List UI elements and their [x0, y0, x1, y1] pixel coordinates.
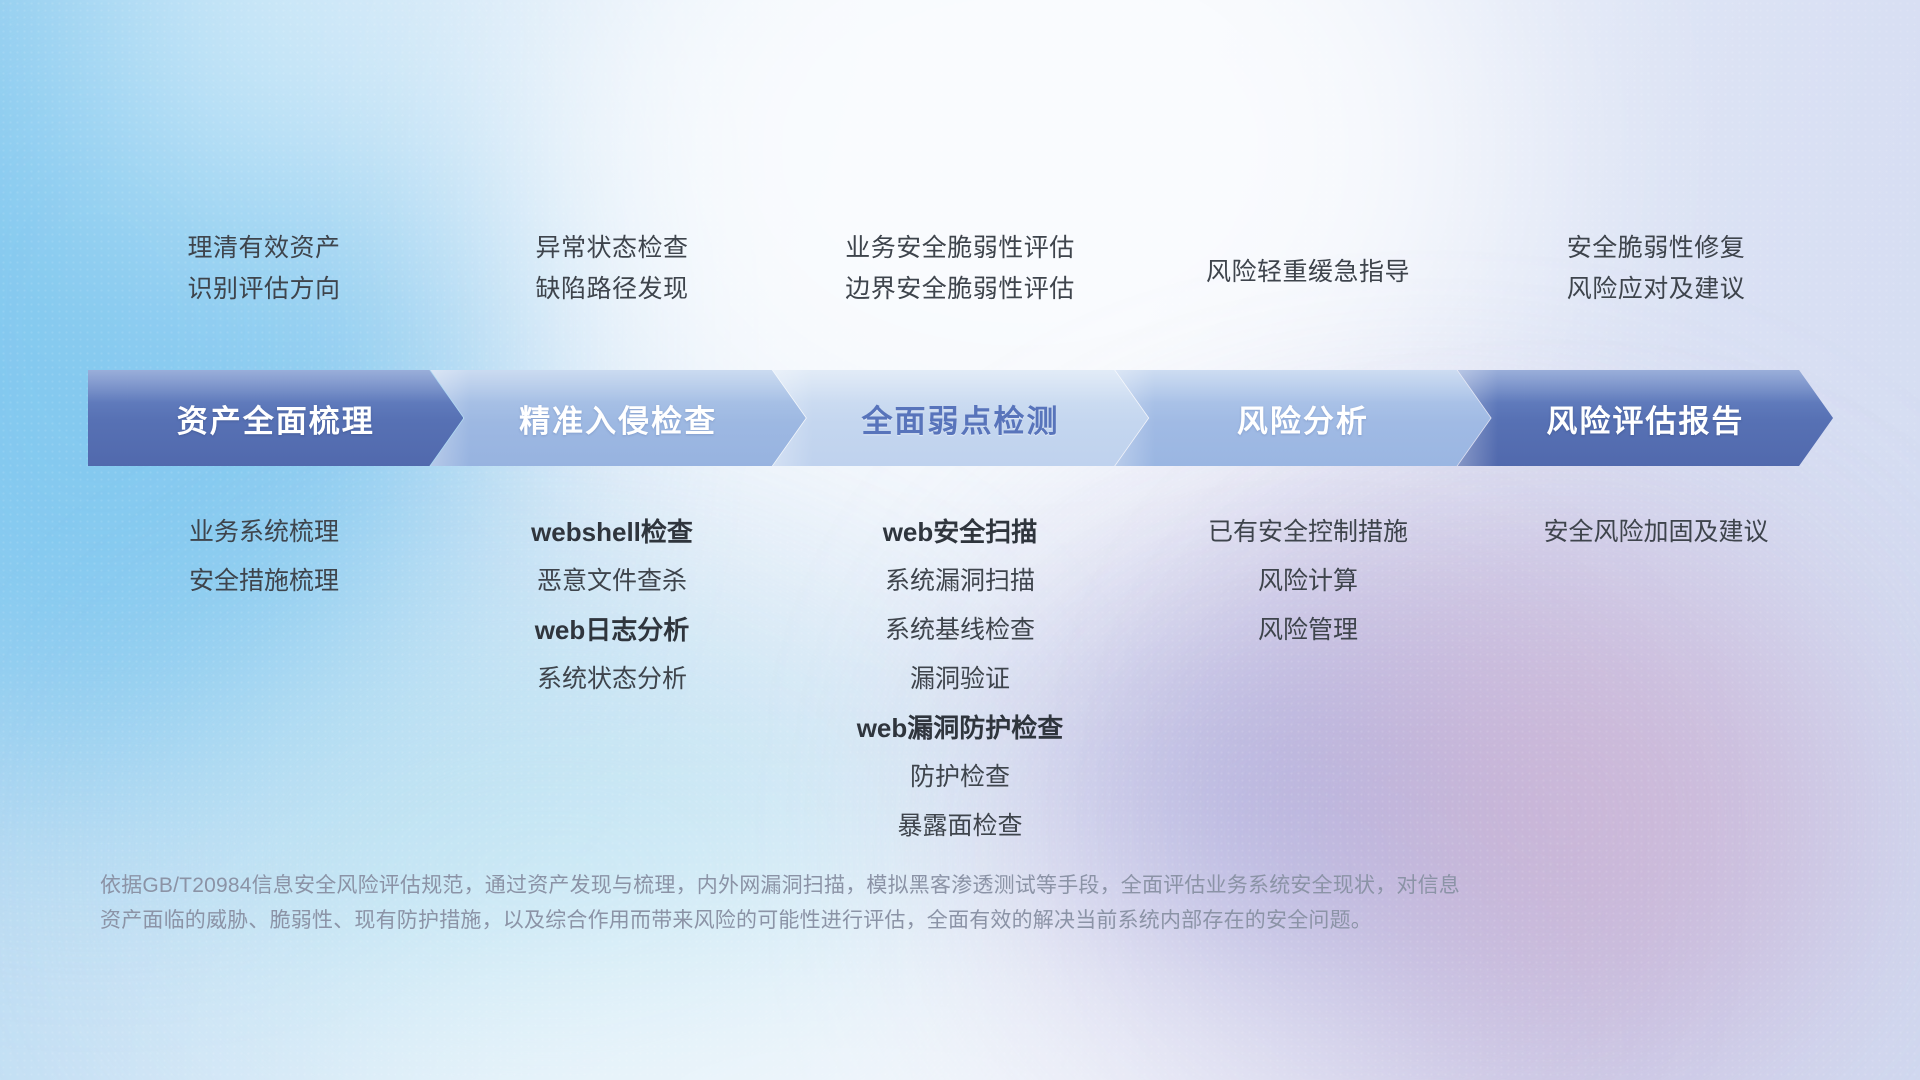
list-item: web漏洞防护检查	[786, 704, 1134, 753]
top-descriptor-row: 理清有效资产 识别评估方向 异常状态检查 缺陷路径发现 业务安全脆弱性评估 边界…	[90, 228, 1830, 338]
top-descriptor-line: 异常状态检查	[438, 228, 786, 269]
list-item: 系统基线检查	[786, 606, 1134, 655]
top-descriptor-line: 风险应对及建议	[1482, 269, 1830, 310]
top-descriptor-line: 缺陷路径发现	[438, 269, 786, 310]
footer-description-line: 资产面临的威胁、脆弱性、现有防护措施，以及综合作用而带来风险的可能性进行评估，全…	[100, 903, 1640, 938]
top-descriptor-line: 安全脆弱性修复	[1482, 228, 1830, 269]
list-item: 安全措施梳理	[90, 557, 438, 606]
list-item: web安全扫描	[786, 508, 1134, 557]
list-item: 防护检查	[786, 753, 1134, 802]
list-item: webshell检查	[438, 508, 786, 557]
process-step-risk-analysis[interactable]: 风险分析	[1115, 370, 1490, 466]
top-descriptor-step-5: 安全脆弱性修复 风险应对及建议	[1482, 228, 1830, 338]
list-item: 风险管理	[1134, 606, 1482, 655]
top-descriptor-line: 识别评估方向	[90, 269, 438, 310]
top-descriptor-line: 边界安全脆弱性评估	[786, 269, 1134, 310]
list-item: 系统漏洞扫描	[786, 557, 1134, 606]
deliverable-list-step-1: 业务系统梳理 安全措施梳理	[90, 508, 438, 606]
top-descriptor-step-4: 风险轻重缓急指导	[1134, 228, 1482, 338]
process-step-weakness-detection[interactable]: 全面弱点检测	[773, 370, 1148, 466]
process-step-intrusion-check[interactable]: 精准入侵检查	[430, 370, 805, 466]
process-step-label: 风险分析	[1237, 396, 1369, 441]
top-descriptor-line: 风险轻重缓急指导	[1134, 252, 1482, 293]
top-descriptor-step-2: 异常状态检查 缺陷路径发现	[438, 228, 786, 338]
list-item: 业务系统梳理	[90, 508, 438, 557]
footer-description: 依据GB/T20984信息安全风险评估规范，通过资产发现与梳理，内外网漏洞扫描，…	[100, 868, 1640, 938]
top-descriptor-line: 业务安全脆弱性评估	[786, 228, 1134, 269]
deliverable-lists-row: 业务系统梳理 安全措施梳理 webshell检查 恶意文件查杀 web日志分析 …	[90, 508, 1830, 851]
top-descriptor-line: 理清有效资产	[90, 228, 438, 269]
process-diagram: 理清有效资产 识别评估方向 异常状态检查 缺陷路径发现 业务安全脆弱性评估 边界…	[0, 0, 1920, 1080]
list-item: 暴露面检查	[786, 802, 1134, 851]
deliverable-list-step-4: 已有安全控制措施 风险计算 风险管理	[1134, 508, 1482, 655]
process-chevron-band: 资产全面梳理 精准入侵检查 全面弱点检测 风险分析 风险评估报告	[88, 370, 1833, 466]
deliverable-list-step-3: web安全扫描 系统漏洞扫描 系统基线检查 漏洞验证 web漏洞防护检查 防护检…	[786, 508, 1134, 851]
footer-description-line: 依据GB/T20984信息安全风险评估规范，通过资产发现与梳理，内外网漏洞扫描，…	[100, 868, 1640, 903]
process-step-asset-inventory[interactable]: 资产全面梳理	[88, 370, 463, 466]
process-step-label: 全面弱点检测	[862, 396, 1060, 441]
process-step-label: 资产全面梳理	[177, 396, 375, 441]
list-item: web日志分析	[438, 606, 786, 655]
list-item: 漏洞验证	[786, 655, 1134, 704]
deliverable-list-step-5: 安全风险加固及建议	[1482, 508, 1830, 557]
top-descriptor-step-3: 业务安全脆弱性评估 边界安全脆弱性评估	[786, 228, 1134, 338]
deliverable-list-step-2: webshell检查 恶意文件查杀 web日志分析 系统状态分析	[438, 508, 786, 704]
process-step-label: 风险评估报告	[1546, 396, 1744, 441]
list-item: 安全风险加固及建议	[1482, 508, 1830, 557]
list-item: 恶意文件查杀	[438, 557, 786, 606]
list-item: 已有安全控制措施	[1134, 508, 1482, 557]
list-item: 系统状态分析	[438, 655, 786, 704]
list-item: 风险计算	[1134, 557, 1482, 606]
top-descriptor-step-1: 理清有效资产 识别评估方向	[90, 228, 438, 338]
process-step-risk-report[interactable]: 风险评估报告	[1458, 370, 1833, 466]
process-step-label: 精准入侵检查	[519, 396, 717, 441]
